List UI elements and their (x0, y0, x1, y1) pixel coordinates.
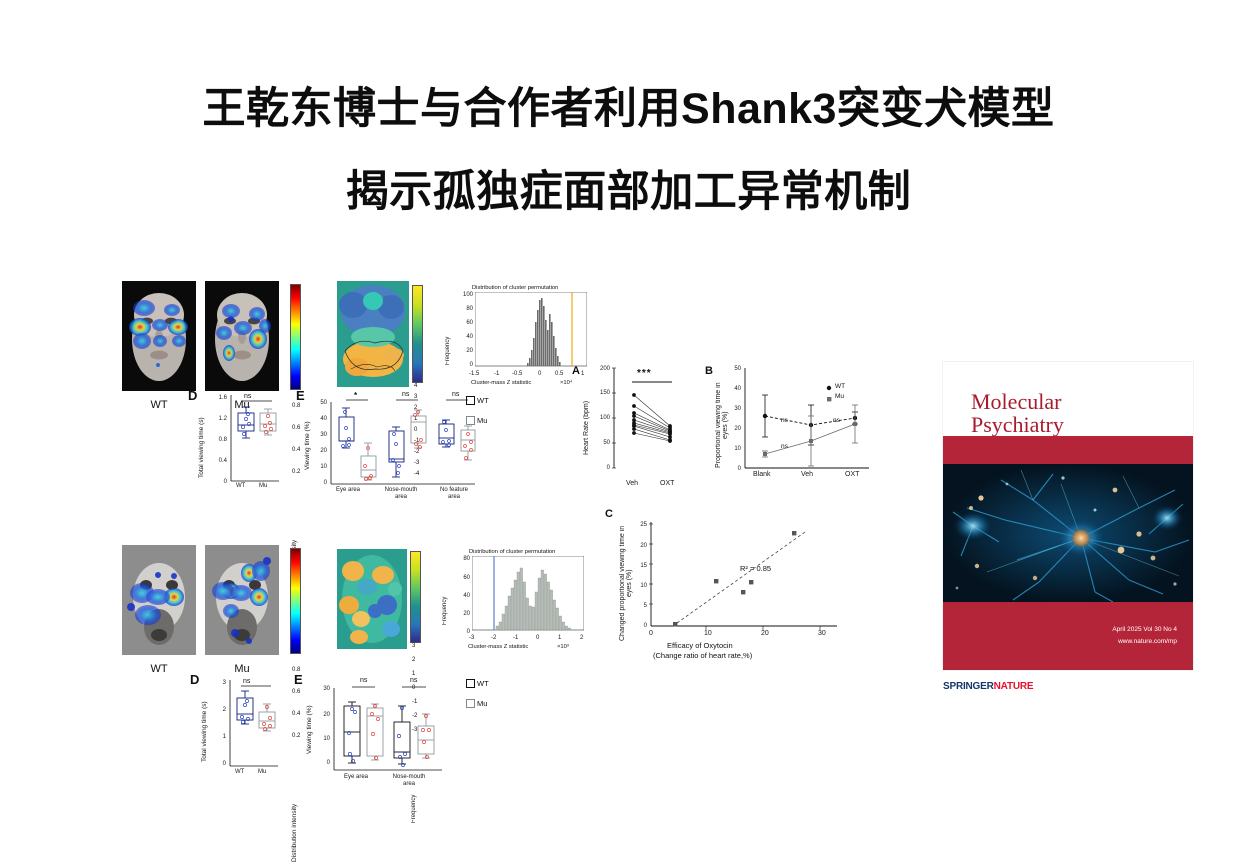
zmap-tick: 2 (412, 657, 415, 663)
panel-d-human: D Total viewing time (s) 1.6 1.2 0.8 0.4… (188, 388, 288, 498)
ytick: 0 (327, 760, 330, 766)
ytick: 5 (644, 603, 647, 609)
zmap-dog (337, 549, 407, 654)
hist-ytick: 60 (463, 575, 470, 581)
panel-letter-c: C (605, 508, 613, 520)
page-title: 王乾东博士与合作者利用Shank3突变犬模型 揭示孤独症面部加工异常机制 (0, 88, 1257, 214)
ytick: 10 (734, 446, 741, 452)
heatmap-human-wt-label: WT (122, 399, 196, 411)
hist-x-exponent: ×10³ (557, 644, 569, 650)
hist-x-exponent: ×10⁴ (560, 380, 572, 386)
xtick: OXT (660, 480, 674, 487)
ytick: 0 (223, 761, 226, 767)
panel-e-human: E Viewing time (%) 50 40 30 20 10 0 (296, 388, 486, 506)
panel-c-correlation: C Changed proportional viewing time in e… (605, 508, 845, 678)
histogram-human-svg (475, 292, 587, 372)
hist-ytick: 80 (463, 556, 470, 562)
legend-swatch-mu (466, 699, 475, 708)
xtick: OXT (845, 471, 859, 478)
cover-bottom-band: April 2025 Vol 30 No 4 www.nature.com/mp (943, 602, 1193, 670)
panel-d-sig: ns (243, 678, 250, 685)
hist-ytick: 80 (466, 306, 473, 312)
panel-e-sig: ns (410, 677, 417, 684)
panel-d-dog-svg (228, 678, 280, 776)
hist-xtick: -3 (469, 635, 474, 641)
panel-letter-d: D (188, 388, 197, 403)
cover-issue: April 2025 Vol 30 No 4 (1112, 626, 1177, 633)
panel-e-sig: * (354, 391, 357, 400)
xtick: 0 (649, 630, 653, 637)
panel-d-sig: ns (244, 393, 251, 400)
hist-ytick: 100 (463, 292, 473, 298)
panel-b-legend-wt: WT (835, 383, 845, 390)
ytick: 0 (324, 480, 327, 486)
histogram-title: Distribution of cluster permutation (469, 549, 555, 555)
ytick: 0.4 (219, 458, 227, 464)
ytick: 15 (640, 563, 647, 569)
panel-letter-e: E (294, 672, 303, 687)
zmap-human (337, 281, 409, 392)
xtick: 30 (818, 630, 826, 637)
panel-b-sig: ns (781, 417, 788, 424)
panel-d-ylabel: Total viewing time (s) (201, 688, 208, 762)
heatmap-dog-wt: WT (122, 545, 196, 675)
logo-springer: SPRINGER (943, 681, 994, 692)
panel-d-ylabel: Total viewing time (s) (198, 402, 205, 478)
legend-human: WT Mu (466, 392, 489, 430)
ytick: 100 (600, 415, 610, 421)
cover-neuron-svg (943, 464, 1193, 602)
cover-top-band (943, 436, 1193, 464)
ytick: 0 (607, 465, 610, 471)
title-line-1: 王乾东博士与合作者利用Shank3突变犬模型 (0, 88, 1257, 131)
heatmap-dog-wt-label: WT (122, 663, 196, 675)
panel-a-heart-rate: A Heart Rate (bpm) 200 150 100 50 0 (572, 365, 702, 500)
ytick: 0 (224, 479, 227, 485)
panel-d-human-svg (229, 393, 281, 489)
ytick: 20 (640, 543, 647, 549)
group-label: Nose-mouth area (384, 487, 418, 501)
heatmap-dog-mu: Mu (205, 545, 279, 675)
hist-ytick: 40 (466, 334, 473, 340)
logo-nature: NATURE (994, 681, 1034, 692)
hist-xlabel: Cluster-mass Z statistic (468, 644, 528, 650)
histogram-title: Distribution of cluster permutation (472, 285, 558, 291)
panel-letter-d: D (190, 672, 199, 687)
slide-root: 王乾东博士与合作者利用Shank3突变犬模型 揭示孤独症面部加工异常机制 (0, 0, 1257, 838)
hist-ytick: 60 (466, 320, 473, 326)
legend-label-mu: Mu (477, 416, 487, 425)
heatmap-human-wt-svg (122, 281, 196, 391)
legend-label-wt: WT (477, 396, 489, 405)
colorbar-human-intensity: 0.8 0.6 0.4 0.2 Distribution intensity (290, 284, 306, 388)
legend-swatch-wt (466, 679, 475, 688)
panel-c-svg (649, 522, 839, 642)
group-label: No feature area (437, 487, 471, 501)
ytick: 50 (734, 366, 741, 372)
cover-title-line1: Molecular (971, 390, 1064, 413)
hist-xtick: 0.5 (555, 371, 563, 377)
journal-cover: Molecular Psychiatry (943, 362, 1193, 670)
ytick: 0 (738, 466, 741, 472)
xtick: WT (236, 483, 245, 489)
hist-xtick: -0.5 (512, 371, 522, 377)
histogram-ylabel: Frequency (442, 567, 448, 625)
legend-swatch-mu (466, 416, 475, 425)
legend-label-mu: Mu (477, 699, 487, 708)
ytick: 10 (640, 583, 647, 589)
ytick: 25 (640, 522, 647, 528)
panel-e-dog: E Viewing time (%) 30 20 10 0 (294, 672, 474, 790)
panel-b-legend-mu: Mu (835, 393, 844, 400)
panel-e-sig: ns (360, 677, 367, 684)
heatmap-human-mu-svg (205, 281, 279, 391)
panel-b-sig: ns (833, 417, 840, 424)
hist-ytick: 0 (470, 362, 473, 368)
legend-dog: WT Mu (466, 675, 489, 713)
panel-e-dog-svg (332, 684, 444, 784)
hist-xtick: 0 (536, 635, 539, 641)
xtick: Veh (626, 480, 638, 487)
panel-e-ylabel: Viewing time (%) (306, 694, 313, 754)
panel-e-human-svg (329, 398, 477, 498)
ytick: 1.2 (219, 416, 227, 422)
zmap-tick: 3 (412, 643, 415, 649)
hist-xtick: 2 (580, 635, 583, 641)
panel-b-sig: ns (781, 443, 788, 450)
ytick: 0 (644, 623, 647, 629)
ytick: 1.6 (219, 395, 227, 401)
hist-xtick: -1.5 (469, 371, 479, 377)
panel-b-svg (743, 366, 871, 478)
panel-e-ylabel: Viewing time (%) (304, 408, 311, 470)
panel-letter-e: E (296, 388, 305, 403)
ytick: 30 (734, 406, 741, 412)
histogram-dog-svg (472, 556, 584, 636)
xtick: WT (235, 769, 244, 775)
cover-website: www.nature.com/mp (1118, 638, 1177, 645)
hist-ytick: 20 (463, 611, 470, 617)
hist-xtick: -1 (513, 635, 518, 641)
panel-letter-a: A (572, 365, 580, 377)
panel-a-sig: *** (637, 368, 652, 379)
ytick: 1 (223, 734, 226, 740)
xtick: Veh (801, 471, 813, 478)
panel-a-svg (612, 366, 690, 478)
hist-xtick: 1 (558, 635, 561, 641)
panel-e-sig: ns (452, 391, 459, 398)
panel-c-annotation: R² = 0.85 (740, 564, 771, 573)
ytick: 40 (320, 416, 327, 422)
hist-xlabel: Cluster-mass Z statistic (471, 380, 531, 386)
colorbar-dog-intensity: 0.8 0.6 0.4 0.2 Distribution intensity (290, 548, 306, 652)
histogram-dog-permutation: Distribution of cluster permutation Freq… (442, 549, 588, 655)
xtick: 10 (704, 630, 712, 637)
title-line-2: 揭示孤独症面部加工异常机制 (0, 171, 1257, 214)
hist-xtick: 0 (538, 371, 541, 377)
ytick: 200 (600, 366, 610, 372)
group-label: Eye area (336, 487, 360, 493)
xtick: 20 (761, 630, 769, 637)
ytick: 30 (323, 686, 330, 692)
panel-b-proportional-viewing: B Proportional viewing time in eyes (%) … (705, 365, 881, 500)
ytick: 10 (320, 464, 327, 470)
panel-a-ylabel: Heart Rate (bpm) (583, 387, 590, 455)
panel-c-xlabel-2: (Change ratio of heart rate,%) (653, 651, 752, 660)
heatmap-human-wt: WT (122, 281, 196, 411)
ytick: 10 (323, 736, 330, 742)
panel-letter-b: B (705, 365, 713, 377)
cover-title-line2: Psychiatry (971, 413, 1064, 436)
ytick: 50 (320, 400, 327, 406)
ytick: 20 (323, 712, 330, 718)
group-label: Nose-mouth area (392, 774, 426, 788)
hist-ytick: 40 (463, 593, 470, 599)
xtick: Mu (259, 483, 267, 489)
ytick: 150 (600, 390, 610, 396)
heatmap-dog-mu-svg (205, 545, 279, 655)
zmap-dog-svg (337, 549, 407, 649)
cover-image-neurons (943, 464, 1193, 602)
ytick: 0.8 (219, 437, 227, 443)
ytick: 40 (734, 386, 741, 392)
ytick: 50 (603, 440, 610, 446)
group-label: Eye area (344, 774, 368, 780)
heatmap-dog-wt-svg (122, 545, 196, 655)
ytick: 20 (734, 426, 741, 432)
xtick: Blank (753, 471, 771, 478)
cover-title: Molecular Psychiatry (971, 390, 1064, 436)
panel-c-xlabel-1: Efficacy of Oxytocin (667, 641, 733, 650)
legend-label-wt: WT (477, 679, 489, 688)
zmap-human-svg (337, 281, 409, 387)
ytick: 3 (223, 680, 226, 686)
histogram-ylabel: Frequency (445, 301, 451, 365)
histogram-human-permutation: Distribution of cluster permutation Freq… (445, 285, 591, 391)
ytick: 20 (320, 448, 327, 454)
hist-ytick: 20 (466, 348, 473, 354)
legend-swatch-wt (466, 396, 475, 405)
xtick: Mu (258, 769, 266, 775)
panel-e-sig: ns (402, 391, 409, 398)
ytick: 30 (320, 432, 327, 438)
panel-d-dog: D Total viewing time (s) 3 2 1 0 (190, 672, 290, 784)
hist-xtick: -1 (494, 371, 499, 377)
ytick: 2 (223, 707, 226, 713)
hist-xtick: -2 (491, 635, 496, 641)
springer-nature-logo: SPRINGERNATURE (943, 681, 1033, 692)
